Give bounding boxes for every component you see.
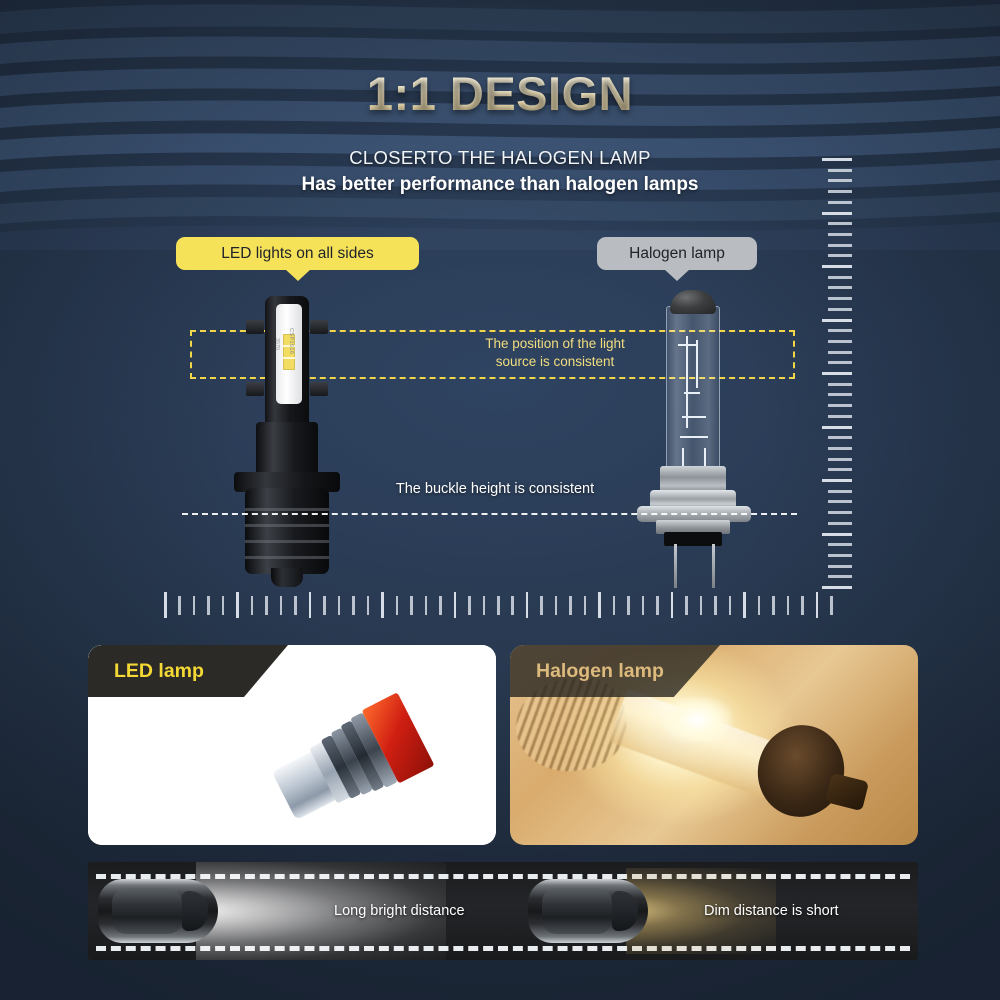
- car-cabin: [542, 888, 612, 934]
- ruler-tick-minor: [294, 596, 297, 615]
- ruler-tick-minor: [828, 244, 852, 247]
- ruler-tick-minor: [425, 596, 428, 615]
- ruler-tick-minor: [828, 383, 852, 386]
- ruler-tick-minor: [367, 596, 370, 615]
- ruler-tick-minor: [828, 490, 852, 493]
- ruler-tick-minor: [828, 222, 852, 225]
- ruler-tick-minor: [439, 596, 442, 615]
- led-lamp-photo-panel: LED lamp: [88, 645, 496, 845]
- ruler-tick-major: [526, 592, 529, 618]
- ruler-tick-minor: [828, 522, 852, 525]
- ruler-tick-minor: [758, 596, 761, 615]
- car-cabin: [112, 888, 182, 934]
- ruler-tick-minor: [828, 458, 852, 461]
- ruler-tick-major: [822, 586, 852, 589]
- ruler-tick-minor: [222, 596, 225, 615]
- led-base-rib: [245, 508, 329, 511]
- ruler-tick-major: [598, 592, 601, 618]
- ruler-tick-minor: [828, 329, 852, 332]
- halogen-filament-cross: [678, 344, 696, 346]
- ruler-tick-major: [309, 592, 312, 618]
- halogen-glass-envelope: [666, 306, 720, 468]
- ruler-tick-minor: [830, 596, 833, 615]
- infographic-root: 1:1 DESIGN CLOSERTO THE HALOGEN LAMP Has…: [0, 0, 1000, 1000]
- road-label-led: Long bright distance: [334, 903, 465, 919]
- halogen-filament-wire: [696, 340, 698, 388]
- led-wing-right-lower: [310, 382, 328, 396]
- led-base-rib: [245, 524, 329, 527]
- halogen-lead-wire: [704, 448, 706, 468]
- car-windshield: [612, 891, 638, 931]
- ruler-tick-minor: [828, 500, 852, 503]
- led-wing-left: [246, 320, 264, 334]
- ruler-tick-minor: [828, 201, 852, 204]
- ruler-tick-minor: [828, 340, 852, 343]
- led-chip-substrate: CSP1616 3570: [276, 304, 302, 404]
- car-windshield: [182, 891, 208, 931]
- ruler-tick-minor: [729, 596, 732, 615]
- ruler-tick-minor: [352, 596, 355, 615]
- ruler-tick-minor: [251, 596, 254, 615]
- page-title: 1:1 DESIGN: [0, 66, 1000, 121]
- callout-led-lights: LED lights on all sides: [176, 237, 419, 270]
- ruler-tick-minor: [828, 361, 852, 364]
- ruler-tick-major: [822, 158, 852, 161]
- ruler-tick-minor: [584, 596, 587, 615]
- halogen-filament-support: [680, 436, 708, 438]
- car-halogen: [528, 879, 648, 943]
- ruler-tick-minor: [483, 596, 486, 615]
- ruler-tick-major: [164, 592, 167, 618]
- ruler-tick-minor: [193, 596, 196, 615]
- led-wing-left-lower: [246, 382, 264, 396]
- ruler-tick-minor: [410, 596, 413, 615]
- ruler-tick-major: [822, 265, 852, 268]
- ruler-tick-major: [381, 592, 384, 618]
- buckle-height-reference-line: [182, 513, 797, 515]
- ruler-tick-minor: [828, 436, 852, 439]
- led-shoulder: [256, 422, 318, 476]
- ruler-tick-minor: [178, 596, 181, 615]
- halogen-contact-pin: [674, 544, 677, 588]
- led-base-tip: [271, 568, 303, 587]
- halogen-bulb-illustration: [634, 288, 762, 588]
- ruler-tick-minor: [396, 596, 399, 615]
- ruler-tick-minor: [828, 297, 852, 300]
- halogen-photo-filament-glow: [662, 697, 732, 743]
- ruler-tick-minor: [280, 596, 283, 615]
- ruler-tick-minor: [772, 596, 775, 615]
- ruler-tick-minor: [265, 596, 268, 615]
- vertical-ruler: [818, 158, 864, 586]
- led-chip-code: 3570: [274, 338, 280, 350]
- ruler-tick-minor: [828, 286, 852, 289]
- ruler-tick-major: [454, 592, 457, 618]
- ruler-tick-minor: [828, 254, 852, 257]
- ruler-tick-minor: [787, 596, 790, 615]
- halogen-filament-coil: [682, 416, 706, 418]
- ruler-tick-minor: [828, 233, 852, 236]
- light-source-note-line1: The position of the light: [485, 336, 625, 351]
- ruler-tick-minor: [828, 404, 852, 407]
- car-led: [98, 879, 218, 943]
- halogen-filament-post: [686, 336, 688, 428]
- ruler-tick-minor: [828, 468, 852, 471]
- ruler-tick-minor: [828, 393, 852, 396]
- ruler-tick-minor: [540, 596, 543, 615]
- ruler-tick-minor: [613, 596, 616, 615]
- ruler-tick-minor: [627, 596, 630, 615]
- ruler-tick-minor: [700, 596, 703, 615]
- ruler-tick-minor: [714, 596, 717, 615]
- ruler-tick-minor: [828, 169, 852, 172]
- halogen-photo-stub: [825, 773, 869, 811]
- ruler-tick-minor: [828, 575, 852, 578]
- ruler-tick-minor: [468, 596, 471, 615]
- halogen-lamp-photo-panel: Halogen lamp: [510, 645, 918, 845]
- led-wing-right: [310, 320, 328, 334]
- callout-halogen-lamp: Halogen lamp: [597, 237, 757, 270]
- halogen-filament-coil: [684, 392, 700, 394]
- buckle-height-note: The buckle height is consistent: [330, 481, 660, 497]
- ruler-tick-minor: [656, 596, 659, 615]
- halogen-panel-tab-label: Halogen lamp: [536, 660, 664, 683]
- ruler-tick-major: [822, 212, 852, 215]
- horizontal-ruler: [164, 592, 830, 618]
- ruler-tick-minor: [511, 596, 514, 615]
- ruler-tick-major: [671, 592, 674, 618]
- ruler-tick-minor: [828, 543, 852, 546]
- ruler-tick-major: [822, 533, 852, 536]
- led-base-rib: [245, 556, 329, 559]
- led-chip-print: CSP1616: [288, 328, 294, 354]
- ruler-tick-minor: [828, 415, 852, 418]
- ruler-tick-major: [822, 319, 852, 322]
- ruler-tick-minor: [828, 351, 852, 354]
- ruler-tick-minor: [338, 596, 341, 615]
- led-neck: CSP1616 3570: [265, 296, 309, 426]
- ruler-tick-major: [236, 592, 239, 618]
- ruler-tick-minor: [569, 596, 572, 615]
- led-panel-tab-label: LED lamp: [114, 660, 204, 683]
- road-comparison-strip: Long bright distance Dim distance is sho…: [88, 862, 918, 960]
- halogen-black-tip: [670, 290, 716, 314]
- ruler-tick-minor: [828, 447, 852, 450]
- ruler-tick-minor: [801, 596, 804, 615]
- led-base-barrel: [245, 488, 329, 574]
- ruler-tick-major: [822, 372, 852, 375]
- ruler-tick-minor: [323, 596, 326, 615]
- ruler-tick-major: [822, 479, 852, 482]
- halogen-photo-dark-cap: [748, 716, 854, 826]
- ruler-tick-minor: [497, 596, 500, 615]
- ruler-tick-minor: [828, 511, 852, 514]
- ruler-tick-minor: [828, 308, 852, 311]
- ruler-tick-minor: [685, 596, 688, 615]
- ruler-tick-major: [822, 426, 852, 429]
- ruler-tick-minor: [828, 565, 852, 568]
- ruler-tick-major: [743, 592, 746, 618]
- ruler-tick-minor: [642, 596, 645, 615]
- ruler-tick-major: [816, 592, 819, 618]
- led-bulb-illustration: CSP1616 3570: [226, 296, 348, 588]
- led-base-rib: [245, 540, 329, 543]
- halogen-contact-pin: [712, 544, 715, 588]
- light-source-note-line2: source is consistent: [496, 354, 615, 369]
- ruler-tick-minor: [828, 276, 852, 279]
- ruler-tick-minor: [828, 179, 852, 182]
- ruler-tick-minor: [207, 596, 210, 615]
- ruler-tick-minor: [828, 190, 852, 193]
- road-label-halogen: Dim distance is short: [704, 903, 839, 919]
- ruler-tick-minor: [828, 554, 852, 557]
- ruler-tick-minor: [555, 596, 558, 615]
- halogen-lead-wire: [682, 448, 684, 468]
